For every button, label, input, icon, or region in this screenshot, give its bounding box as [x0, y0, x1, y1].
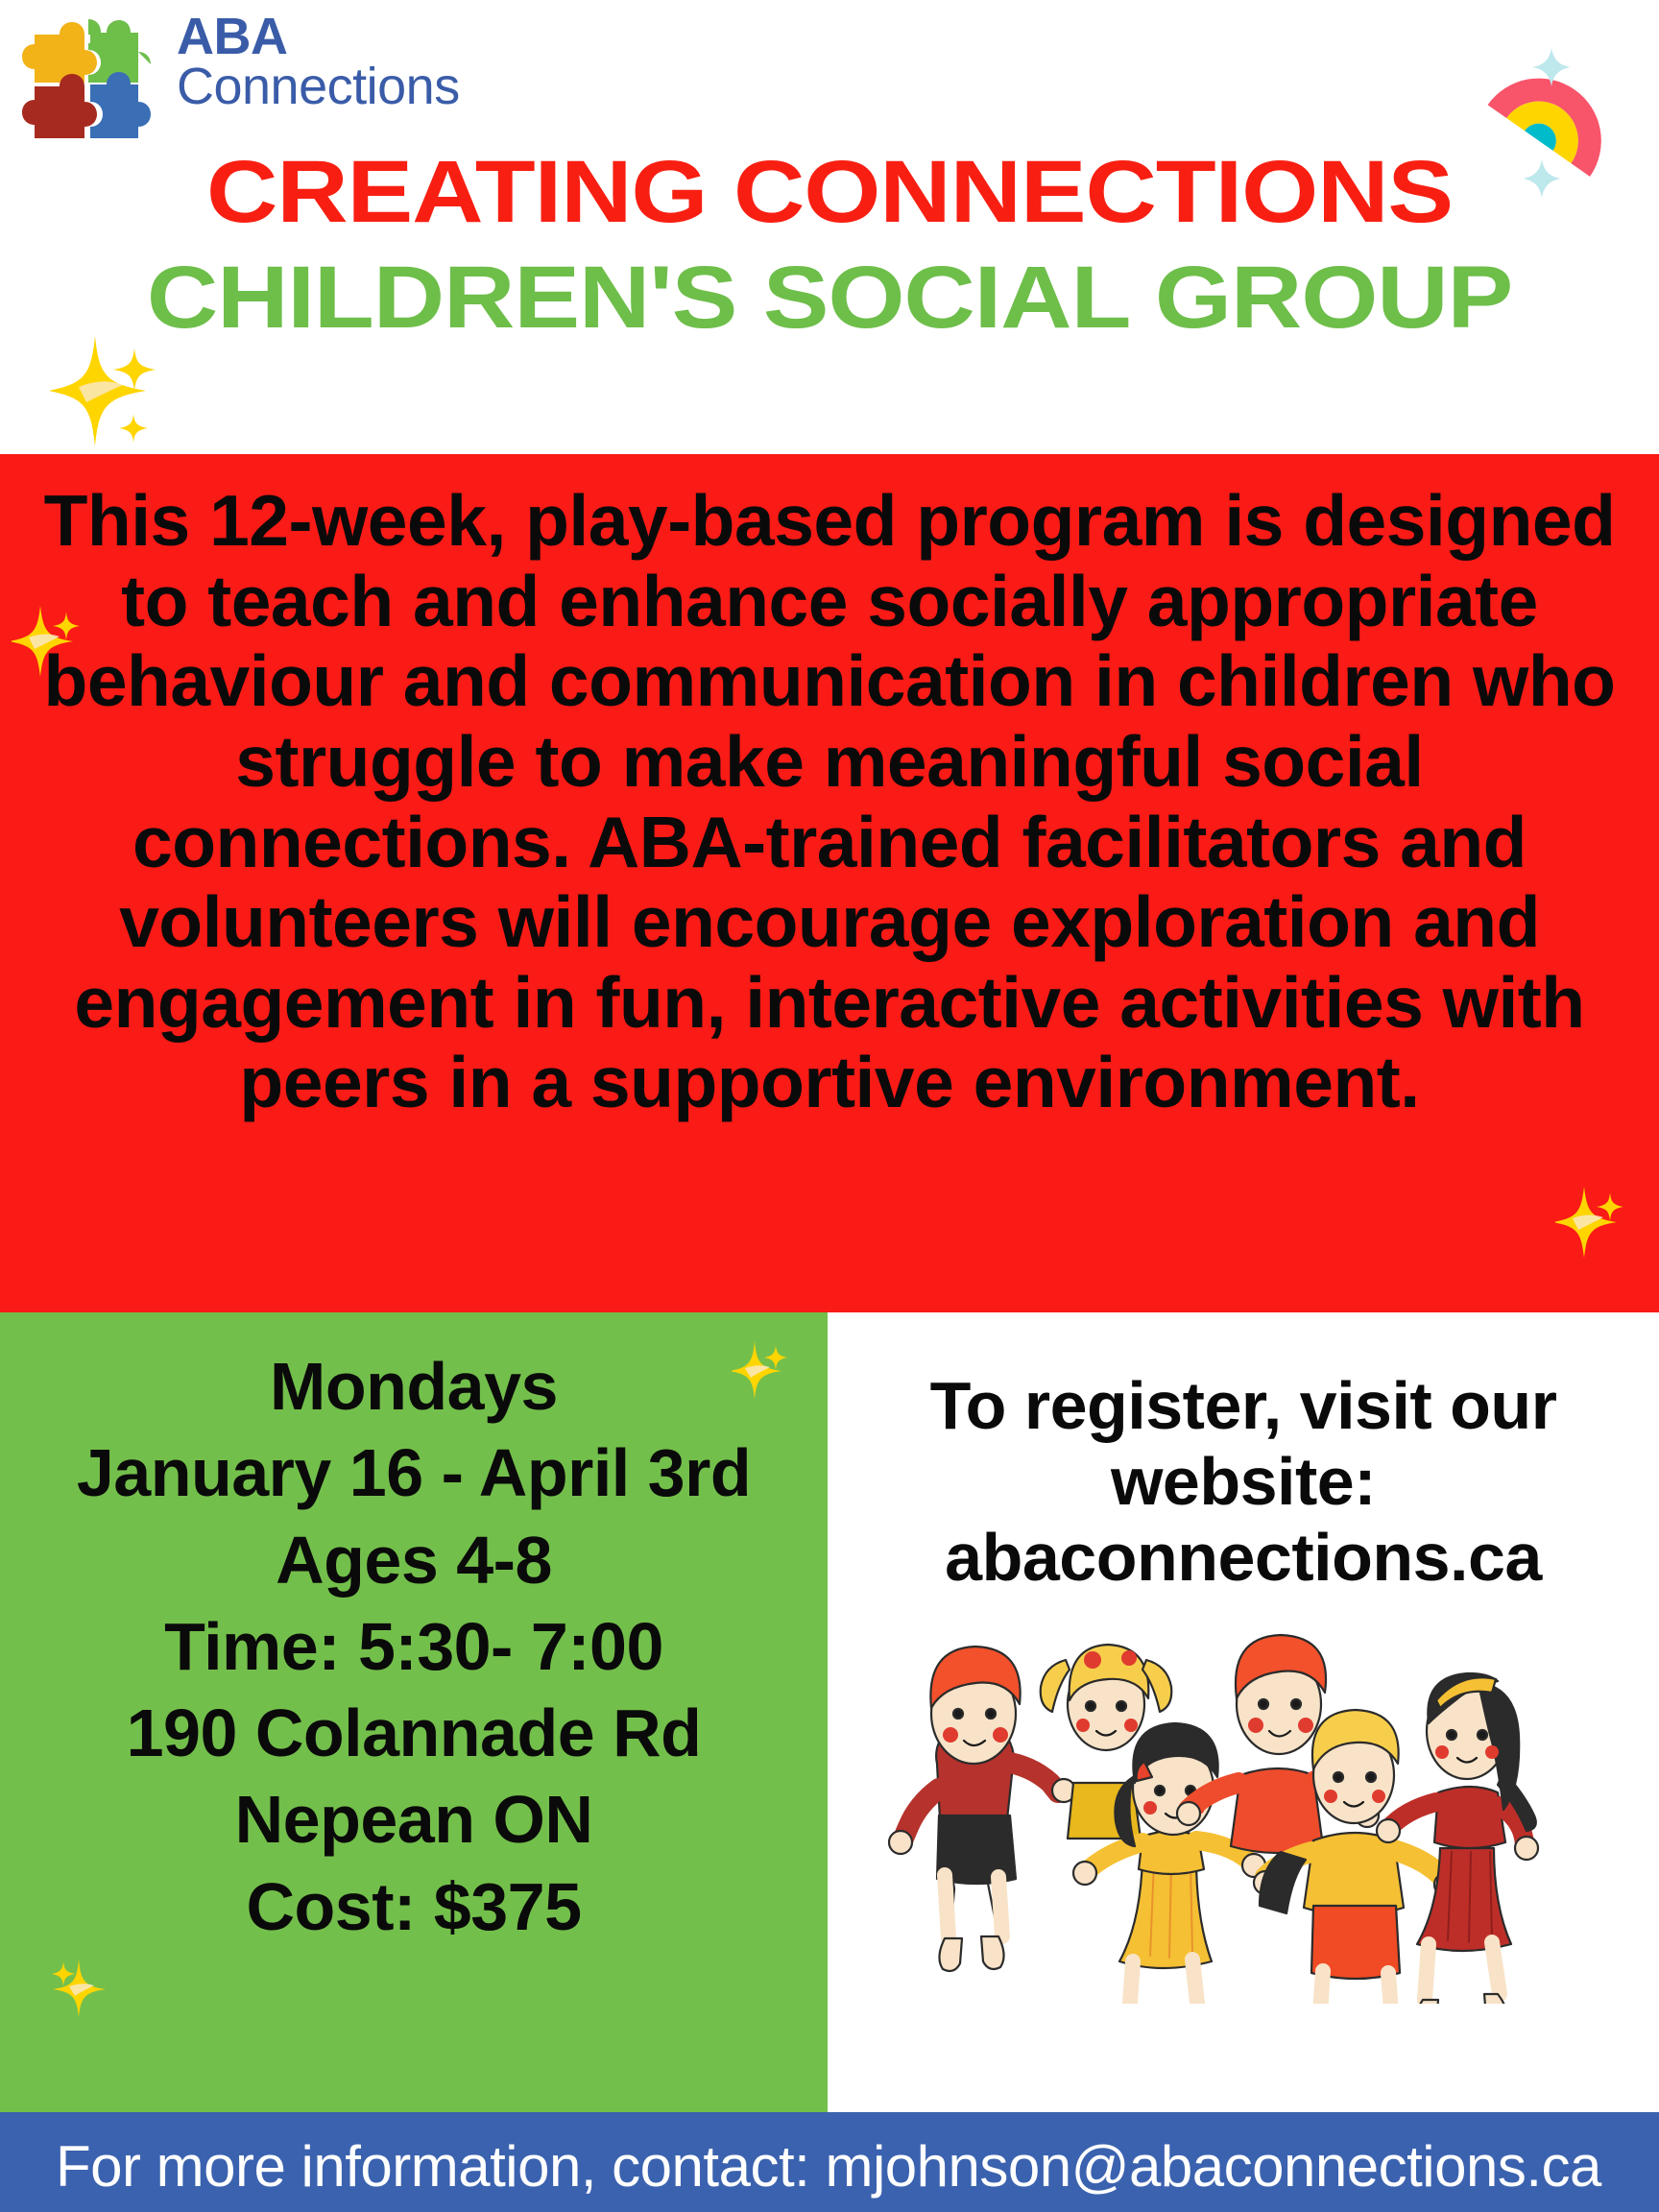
details-list: Mondays January 16 - April 3rd Ages 4-8 … — [0, 1343, 828, 1950]
sparkle-icon — [50, 1958, 109, 2019]
sparkle-icon — [1555, 1184, 1628, 1261]
register-website[interactable]: abaconnections.ca — [856, 1520, 1630, 1596]
details-panel: Mondays January 16 - April 3rd Ages 4-8 … — [0, 1312, 828, 2112]
details-line: Ages 4-8 — [0, 1517, 828, 1603]
details-line: Nepean ON — [0, 1776, 828, 1863]
register-text: To register, visit our website: abaconne… — [856, 1368, 1630, 1596]
page-title-line-1: CREATING CONNECTIONS — [0, 142, 1659, 243]
description-text: This 12-week, play-based program is desi… — [13, 481, 1646, 1123]
details-line: 190 Colannade Rd — [0, 1690, 828, 1776]
sparkle-icon — [1530, 46, 1573, 88]
header-section: ABA Connections CREATING CONNECTIONS CHI… — [0, 0, 1659, 454]
footer-bar: For more information, contact: mjohnson@… — [0, 2112, 1659, 2212]
brand-logo: ABA Connections — [13, 8, 551, 134]
brand-line-1: ABA — [177, 12, 541, 61]
details-line: January 16 - April 3rd — [0, 1430, 828, 1516]
register-panel: To register, visit our website: abaconne… — [828, 1312, 1659, 2112]
details-line: Mondays — [0, 1343, 828, 1430]
puzzle-logo-icon — [13, 13, 157, 150]
description-section: This 12-week, play-based program is desi… — [0, 454, 1659, 1312]
brand-text: ABA Connections — [177, 12, 541, 112]
middle-section: Mondays January 16 - April 3rd Ages 4-8 … — [0, 1312, 1659, 2112]
footer-contact-text: For more information, contact: mjohnson@… — [56, 2133, 1601, 2200]
brand-line-2: Connections — [177, 61, 541, 111]
children-holding-hands-illustration — [854, 1600, 1642, 2004]
details-line: Time: 5:30- 7:00 — [0, 1603, 828, 1690]
register-line-1: To register, visit our — [856, 1368, 1630, 1444]
details-line: Cost: $375 — [0, 1863, 828, 1950]
page-title-line-2: CHILDREN'S SOCIAL GROUP — [0, 248, 1659, 349]
sparkle-icon — [50, 331, 165, 451]
register-line-2: website: — [856, 1444, 1630, 1520]
